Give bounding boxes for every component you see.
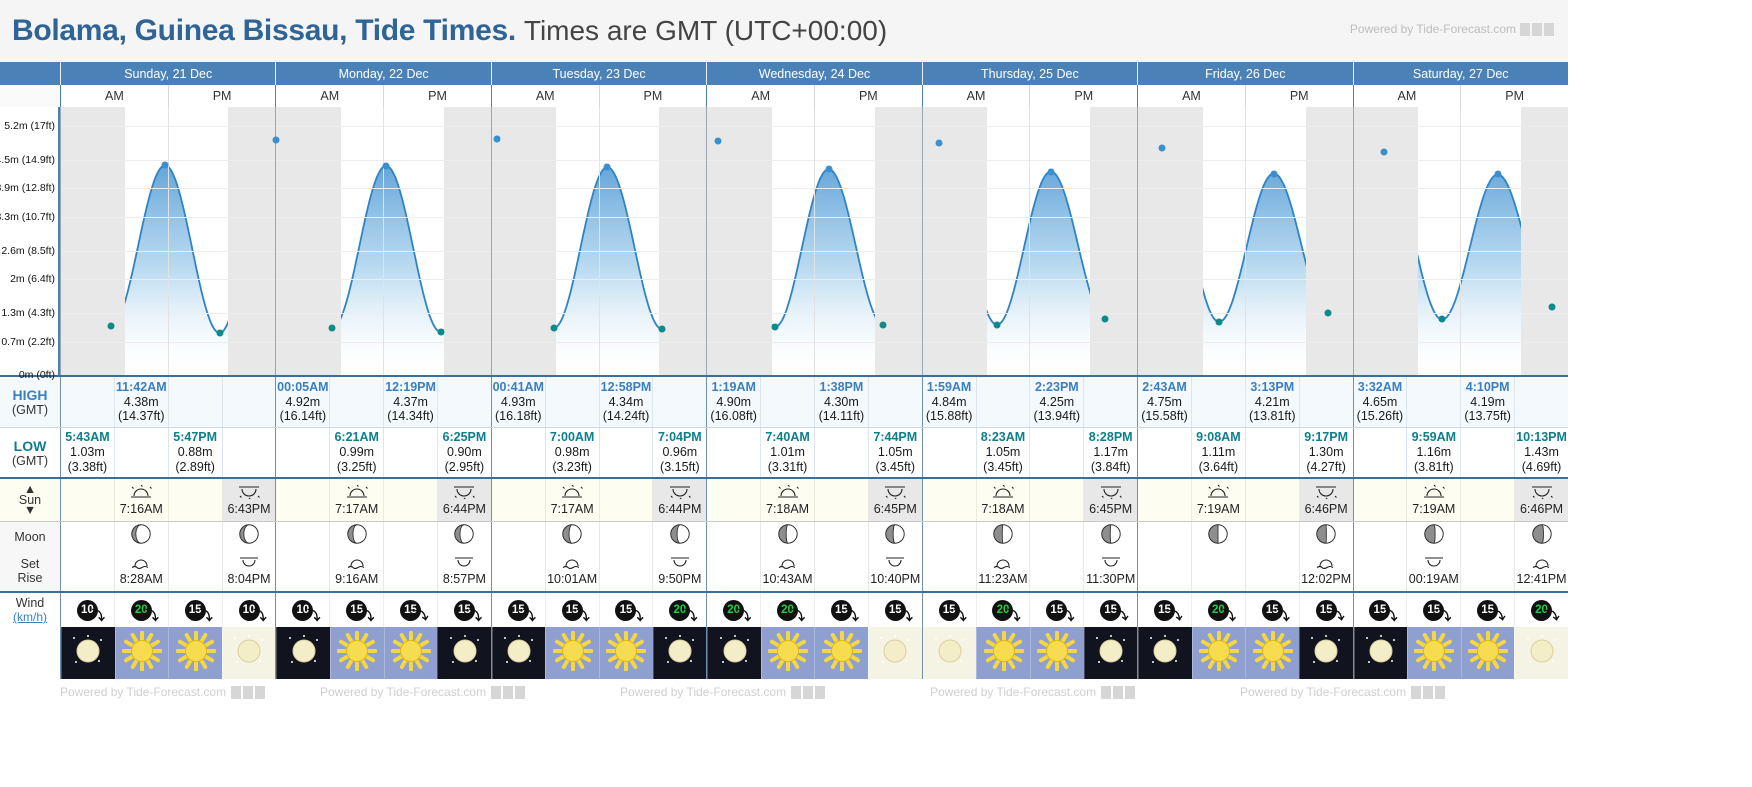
low-tide-day-5: 9:08AM1.11m(3.64ft)9:17PM1.30m(4.27ft) [1137,428,1352,477]
day-header-2: Tuesday, 23 Dec [491,62,706,85]
gridline-half-5 [1245,107,1246,375]
moon-icon [1306,631,1346,676]
moonset-icon [1315,556,1337,572]
weather-day-5 [1137,627,1352,679]
moon-cell-5-3 [1299,522,1353,551]
low-tide-day-4: 8:23AM1.05m(3.45ft)8:28PM1.17m(3.84ft) [922,428,1137,477]
moon-setrise-cell-4-3: 11:30PM [1083,551,1137,591]
high-tide-row: HIGH (GMT) 11:42AM4.38m(14.37ft)00:05AM4… [0,375,1568,427]
high-tide-day-4: 1:59AM4.84m(15.88ft)2:23PM4.25m(13.94ft) [922,377,1137,427]
tide-forecast-page: Bolama, Guinea Bissau, Tide Times. Times… [0,0,1568,787]
tide-point-high-15 [936,140,943,147]
day-header-4: Thursday, 25 Dec [922,62,1137,85]
weather-cell-2-2 [599,627,653,679]
wind-direction-arrow-icon: ⤵ [1438,605,1451,624]
sun-cell-6-3: 6:46PM [1514,479,1568,521]
sun-icon [176,631,216,676]
sun-time: 6:43PM [227,502,270,516]
high-tide-cell-4-1 [976,377,1030,427]
moon-setrise-cell-2-0 [492,551,545,591]
sun-icon [1468,631,1508,676]
wind-cell-1-2: 15⤵ [383,593,437,627]
weather-cell-3-3 [868,627,922,679]
sun-time: 6:46PM [1520,502,1563,516]
high-tide-time: 00:05AM [277,380,328,395]
low-tide-time: 9:08AM [1196,430,1240,445]
low-tide-cell-1-1: 6:21AM0.99m(3.25ft) [329,428,383,477]
low-tide-day-2: 7:00AM0.98m(3.23ft)7:04PM0.96m(3.15ft) [491,428,706,477]
moonrise-icon [238,556,260,572]
moon-day-0 [60,522,275,551]
moon-phase-icon [777,523,799,550]
moon-cell-1-3 [437,522,491,551]
ampm-cell-1-pm: PM [383,85,491,107]
y-tick-6: 1.3m (4.3ft) [1,307,55,319]
tide-point-low-0 [108,322,115,329]
high-tide-cell-5-2: 3:13PM4.21m(13.81ft) [1245,377,1299,427]
gridline-day-3 [706,107,707,375]
moon-setrise-day-3: 10:43AM10:40PM [706,551,921,591]
tide-point-high-3 [273,136,280,143]
sun-time: 7:16AM [120,502,163,516]
high-tide-meters: 4.38m [124,395,159,410]
moon-setrise-cell-1-1: 9:16AM [329,551,383,591]
high-tide-feet: (15.88ft) [926,409,973,424]
moonrise-icon [453,556,475,572]
high-tide-cell-4-2: 2:23PM4.25m(13.94ft) [1029,377,1083,427]
tide-chart: 5.2m (17ft)4.5m (14.9ft)3.9m (12.8ft)3.3… [0,107,1568,375]
footer-logo-bars-icon [791,686,825,699]
wind-direction-arrow-icon: ⤵ [146,605,159,624]
ampm-cell-0-pm: PM [168,85,276,107]
moon-setrise-day-5: 12:02PM [1137,551,1352,591]
sunrise-icon [777,485,799,502]
moon-phase-icon [1207,523,1229,550]
low-tide-label: LOW (GMT) [0,428,60,477]
high-tide-cell-2-3 [652,377,706,427]
high-tide-cell-2-0: 00:41AM4.93m(16.18ft) [492,377,545,427]
high-tide-feet: (14.37ft) [118,409,165,424]
tide-plot-area [60,107,1568,375]
high-tide-feet: (13.75ft) [1464,409,1511,424]
arrow-up-icon: ▲ [24,486,36,493]
moon-phase-icon [1315,523,1337,550]
tide-point-low-24 [1439,316,1446,323]
ampm-cell-6-am: AM [1354,85,1461,107]
low-tide-feet: (3.15ft) [660,460,700,475]
moon-icon [660,631,700,676]
low-tide-feet: (3.45ft) [983,460,1023,475]
high-tide-meters: 4.25m [1039,395,1074,410]
tide-point-low-2 [216,329,223,336]
wind-cell-4-1: 20⤵ [976,593,1030,627]
footer-logo-bars-icon [1101,686,1135,699]
low-tide-cell-0-3 [222,428,276,477]
moon-icon [930,631,970,676]
moon-rise-label: Rise [17,571,42,585]
high-tide-meters: 4.37m [393,395,428,410]
wind-direction-arrow-icon: ⤵ [630,605,643,624]
ampm-day-3: AMPM [706,85,921,107]
wind-speed-badge: 15⤵ [1046,600,1067,621]
moon-setrise-cell-6-2 [1460,551,1514,591]
sunset-icon [453,485,475,502]
footer-powered-text: Powered by Tide-Forecast.com [60,685,226,699]
wind-speed-badge: 15⤵ [1316,600,1337,621]
sun-day-3: 7:18AM6:45PM [706,479,921,521]
moon-event-time: 8:57PM [443,572,486,586]
low-tide-meters: 0.98m [555,445,590,460]
moon-phase-icon [669,523,691,550]
ampm-cell-5-am: AM [1138,85,1245,107]
moonrise-icon [669,556,691,572]
tide-point-low-14 [880,321,887,328]
day-header-corner [0,62,60,85]
high-tide-meters: 4.90m [716,395,751,410]
wind-cell-3-0: 20⤵ [707,593,760,627]
y-tick-1: 4.5m (14.9ft) [0,154,55,166]
low-tide-cell-1-2 [383,428,437,477]
sun-icon [337,631,377,676]
high-tide-cell-3-2: 1:38PM4.30m(14.11ft) [814,377,868,427]
weather-cell-0-2 [168,627,222,679]
high-tide-feet: (16.14ft) [280,409,327,424]
moon-phase-row: Moon [0,521,1568,551]
moon-label-text: Moon [14,530,45,544]
low-tide-cell-1-0 [276,428,329,477]
moonrise-icon [884,556,906,572]
high-tide-cell-0-2 [168,377,222,427]
night-band-0 [60,107,125,375]
wind-cell-5-1: 20⤵ [1191,593,1245,627]
tide-point-high-23 [1381,149,1388,156]
gridline-half-0 [168,107,169,375]
moon-phase-icon [1531,523,1553,550]
wind-cell-2-0: 15⤵ [492,593,545,627]
sun-cell-1-0 [276,479,329,521]
tide-point-high-7 [493,136,500,143]
high-tide-feet: (14.11ft) [819,409,865,424]
high-tide-time: 12:19PM [385,380,436,395]
gridline-half-1 [383,107,384,375]
sun-cell-2-3: 6:44PM [652,479,706,521]
sun-time: 6:46PM [1305,502,1348,516]
wind-direction-arrow-icon: ⤵ [253,605,266,624]
gridline-half-6 [1460,107,1461,375]
high-tide-time: 2:43AM [1142,380,1186,395]
wind-cell-3-2: 15⤵ [814,593,868,627]
footer-powered-text: Powered by Tide-Forecast.com [320,685,486,699]
wind-direction-arrow-icon: ⤵ [954,605,967,624]
moon-icon [499,631,539,676]
wind-cell-1-3: 15⤵ [437,593,491,627]
sun-cell-6-2 [1460,479,1514,521]
high-tide-day-3: 1:19AM4.90m(16.08ft)1:38PM4.30m(14.11ft) [706,377,921,427]
wind-cell-0-0: 10⤵ [61,593,114,627]
weather-cell-6-2 [1461,627,1515,679]
moon-cell-4-2 [1029,522,1083,551]
sun-label: ▲ Sun ▼ [0,479,60,521]
gridline-half-2 [599,107,600,375]
y-tick-8: 0m (0ft) [19,369,55,381]
night-band-4 [875,107,988,375]
moon-setrise-cell-0-0 [61,551,114,591]
y-tick-5: 2m (6.4ft) [10,273,55,285]
wind-direction-arrow-icon: ⤵ [1277,605,1290,624]
moon-cell-2-3 [652,522,706,551]
moon-event-time: 10:43AM [763,572,813,586]
footer-watermark-2: Powered by Tide-Forecast.com [620,685,825,699]
wind-speed-badge: 15⤵ [1154,600,1175,621]
high-tide-feet: (15.58ft) [1141,409,1188,424]
tide-point-high-11 [715,137,722,144]
wind-direction-arrow-icon: ⤵ [1384,605,1397,624]
moon-setrise-cell-4-0 [923,551,976,591]
sun-icon [553,631,593,676]
sun-cell-3-3: 6:45PM [868,479,922,521]
sun-cell-6-1: 7:19AM [1406,479,1460,521]
high-tide-meters: 4.21m [1255,395,1290,410]
sun-time: 6:44PM [443,502,486,516]
wind-speed-badge: 15⤵ [346,600,367,621]
wind-cell-0-2: 15⤵ [168,593,222,627]
moon-cell-3-2 [814,522,868,551]
wind-cell-6-3: 20⤵ [1514,593,1568,627]
day-header-1: Monday, 22 Dec [275,62,490,85]
tide-point-low-18 [1102,316,1109,323]
footer-watermark-0: Powered by Tide-Forecast.com [60,685,265,699]
wind-speed-badge: 20⤵ [1208,600,1229,621]
moon-setrise-cell-6-1: 00:19AM [1406,551,1460,591]
wind-cell-0-3: 10⤵ [222,593,276,627]
night-band-1 [228,107,341,375]
gridline-day-2 [491,107,492,375]
moon-cell-5-1 [1191,522,1245,551]
moon-cell-0-1 [114,522,168,551]
ampm-day-4: AMPM [922,85,1137,107]
low-tide-cell-6-0 [1354,428,1407,477]
wind-speed-badge: 20⤵ [131,600,152,621]
y-tick-0: 5.2m (17ft) [4,120,55,132]
low-tide-cell-1-3: 6:25PM0.90m(2.95ft) [437,428,491,477]
sun-day-2: 7:17AM6:44PM [491,479,706,521]
wind-row: Wind (km/h) 10⤵20⤵15⤵10⤵10⤵15⤵15⤵15⤵15⤵1… [0,591,1568,627]
footer-logo-bars-icon [231,686,265,699]
high-tide-cell-0-1: 11:42AM4.38m(14.37ft) [114,377,168,427]
low-tide-cell-2-3: 7:04PM0.96m(3.15ft) [652,428,706,477]
wind-cell-5-3: 15⤵ [1299,593,1353,627]
weather-cell-6-3 [1514,627,1568,679]
low-tide-cell-5-0 [1138,428,1191,477]
wind-direction-arrow-icon: ⤵ [684,605,697,624]
low-tide-day-6: 9:59AM1.16m(3.81ft)10:13PM1.43m(4.69ft) [1353,428,1568,477]
high-tide-meters: 4.92m [285,395,320,410]
high-tide-feet: (16.18ft) [495,409,542,424]
wind-cell-4-3: 15⤵ [1083,593,1137,627]
high-tide-feet: (14.34ft) [387,409,434,424]
low-tide-cell-2-2 [599,428,653,477]
high-tide-cell-6-2: 4:10PM4.19m(13.75ft) [1460,377,1514,427]
tide-point-low-16 [993,321,1000,328]
sun-day-1: 7:17AM6:44PM [275,479,490,521]
high-tide-meters: 4.75m [1147,395,1182,410]
moon-day-2 [491,522,706,551]
footer-watermarks: Powered by Tide-Forecast.comPowered by T… [0,679,1568,705]
moon-icon [229,631,269,676]
wind-direction-arrow-icon: ⤵ [792,605,805,624]
wind-day-6: 15⤵15⤵15⤵20⤵ [1353,593,1568,627]
wind-speed-badge: 15⤵ [885,600,906,621]
moon-cell-1-1 [329,522,383,551]
moon-setrise-cell-3-3: 10:40PM [868,551,922,591]
low-tide-cell-0-1 [114,428,168,477]
low-tide-time: 8:23AM [981,430,1025,445]
moon-event-time: 12:41PM [1517,572,1567,586]
low-tide-meters: 1.30m [1309,445,1344,460]
sun-cell-0-0 [61,479,114,521]
page-subtitle: Times are GMT (UTC+00:00) [524,15,887,47]
sunrise-icon [561,485,583,502]
sun-time: 6:45PM [1089,502,1132,516]
ampm-cell-3-am: AM [707,85,814,107]
high-tide-feet: (13.94ft) [1034,409,1081,424]
sun-day-0: 7:16AM6:43PM [60,479,275,521]
low-tide-cell-3-1: 7:40AM1.01m(3.31ft) [760,428,814,477]
moon-setrise-day-1: 9:16AM8:57PM [275,551,490,591]
wind-cell-6-0: 15⤵ [1354,593,1407,627]
moon-phase-icon [238,523,260,550]
low-tide-cell-5-3: 9:17PM1.30m(4.27ft) [1299,428,1353,477]
wind-direction-arrow-icon: ⤵ [413,604,429,625]
wind-speed-badge: 20⤵ [777,600,798,621]
high-tide-meters: 4.84m [932,395,967,410]
moon-day-1 [275,522,490,551]
high-tide-cell-1-0: 00:05AM4.92m(16.14ft) [276,377,329,427]
high-tide-cell-2-2: 12:58PM4.34m(14.24ft) [599,377,653,427]
ampm-day-5: AMPM [1137,85,1352,107]
low-tide-cell-5-2 [1245,428,1299,477]
tide-point-low-22 [1325,309,1332,316]
y-tick-4: 2.6m (8.5ft) [1,245,55,257]
sun-icon [984,631,1024,676]
sunset-icon [884,485,906,502]
wind-speed-badge: 20⤵ [669,600,690,621]
weather-day-6 [1353,627,1568,679]
moon-phase-icon [884,523,906,550]
moon-setrise-cell-4-2 [1029,551,1083,591]
moon-setrise-day-2: 10:01AM9:50PM [491,551,706,591]
day-header-3: Wednesday, 24 Dec [706,62,921,85]
moon-cell-6-2 [1460,522,1514,551]
ampm-day-1: AMPM [275,85,490,107]
moon-day-4 [922,522,1137,551]
moon-setrise-cell-6-0 [1354,551,1407,591]
weather-cell-1-3 [437,627,491,679]
low-tide-feet: (3.81ft) [1414,460,1454,475]
moon-phase-icon [1100,523,1122,550]
weather-day-4 [922,627,1137,679]
high-tide-day-5: 2:43AM4.75m(15.58ft)3:13PM4.21m(13.81ft) [1137,377,1352,427]
low-tide-cell-6-3: 10:13PM1.43m(4.69ft) [1514,428,1568,477]
night-band-6 [1306,107,1419,375]
high-tide-meters: 4.93m [501,395,536,410]
low-tide-time: 10:13PM [1516,430,1567,445]
moon-icon [1091,631,1131,676]
sun-cell-1-3: 6:44PM [437,479,491,521]
moon-cell-1-0 [276,522,329,551]
low-tide-meters: 1.01m [770,445,805,460]
wind-unit-link[interactable]: (km/h) [13,610,47,624]
sun-cell-4-3: 6:45PM [1083,479,1137,521]
wind-day-2: 15⤵15⤵15⤵20⤵ [491,593,706,627]
moon-setrise-cell-2-3: 9:50PM [652,551,706,591]
day-header-5: Friday, 26 Dec [1137,62,1352,85]
moon-cell-0-2 [168,522,222,551]
wind-day-4: 15⤵20⤵15⤵15⤵ [922,593,1137,627]
sun-cell-4-1: 7:18AM [976,479,1030,521]
wind-cell-6-2: 15⤵ [1460,593,1514,627]
ampm-cell-2-pm: PM [599,85,707,107]
moon-cell-6-3 [1514,522,1568,551]
footer-logo-bars-icon [1411,686,1445,699]
wind-speed-badge: 15⤵ [831,600,852,621]
ampm-cell-4-am: AM [923,85,1030,107]
weather-cell-0-3 [222,627,276,679]
moon-cell-6-0 [1354,522,1407,551]
moon-icon [68,631,108,676]
moon-setrise-day-0: 8:28AM8:04PM [60,551,275,591]
moonrise-icon [1423,556,1445,572]
high-tide-day-2: 00:41AM4.93m(16.18ft)12:58PM4.34m(14.24f… [491,377,706,427]
low-tide-time: 7:00AM [550,430,594,445]
moon-setrise-cell-1-2 [383,551,437,591]
gridline-day-1 [275,107,276,375]
high-tide-cell-2-1 [545,377,599,427]
moonset-icon [561,556,583,572]
tide-point-high-19 [1158,144,1165,151]
moon-phase-icon [561,523,583,550]
low-tide-cell-2-1: 7:00AM0.98m(3.23ft) [545,428,599,477]
moon-setrise-cell-4-1: 11:23AM [976,551,1030,591]
low-tide-cell-3-2 [814,428,868,477]
low-tide-cell-4-0 [923,428,976,477]
sunset-icon [1531,485,1553,502]
wind-cell-0-1: 20⤵ [114,593,168,627]
wind-day-5: 15⤵20⤵15⤵15⤵ [1137,593,1352,627]
moon-setrise-cell-2-1: 10:01AM [545,551,599,591]
wind-cell-1-0: 10⤵ [276,593,329,627]
weather-icon-row [0,627,1568,679]
high-tide-cell-1-3 [437,377,491,427]
moon-icon [1361,631,1401,676]
weather-cell-4-0 [923,627,977,679]
y-tick-2: 3.9m (12.8ft) [0,182,55,194]
sunrise-icon [1207,485,1229,502]
high-tide-cell-1-1 [329,377,383,427]
moon-setrise-cell-3-0 [707,551,760,591]
moon-day-6 [1353,522,1568,551]
sunset-icon [669,485,691,502]
moon-label: Moon [0,522,60,551]
wind-cell-4-2: 15⤵ [1029,593,1083,627]
moon-event-time: 8:28AM [120,572,163,586]
moon-setrise-cell-0-2 [168,551,222,591]
wind-direction-arrow-icon: ⤵ [92,605,105,624]
footer-powered-text: Powered by Tide-Forecast.com [1240,685,1406,699]
low-tide-meters: 0.90m [447,445,482,460]
low-tide-feet: (3.25ft) [337,460,377,475]
moon-cell-4-0 [923,522,976,551]
